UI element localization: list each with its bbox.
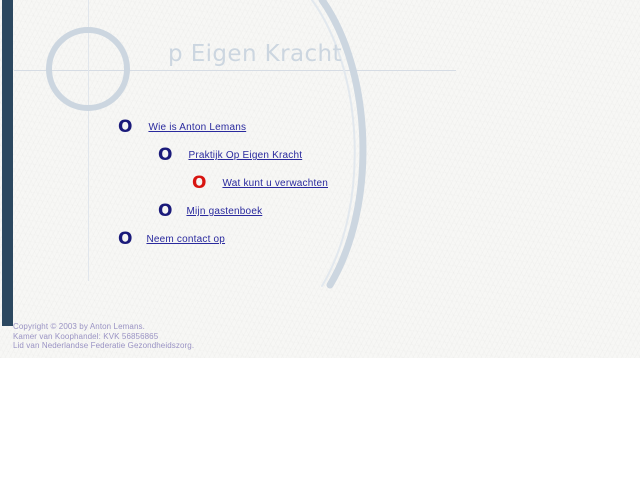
bullet-icon-active: O xyxy=(192,175,206,192)
nav-link-label[interactable]: Wie is Anton Lemans xyxy=(148,122,246,133)
bullet-icon: O xyxy=(158,147,172,164)
nav-item-mijn-gastenboek[interactable]: O Mijn gastenboek xyxy=(158,203,262,220)
nav-item-neem-contact-op[interactable]: O Neem contact op xyxy=(118,231,225,248)
bullet-icon: O xyxy=(118,119,132,136)
nav-item-wie-is-anton-lemans[interactable]: O Wie is Anton Lemans xyxy=(118,119,246,136)
nav-link-label[interactable]: Neem contact op xyxy=(146,234,225,245)
nav-link-label[interactable]: Wat kunt u verwachten xyxy=(222,178,328,189)
nav-link-label[interactable]: Mijn gastenboek xyxy=(186,206,262,217)
bullet-icon: O xyxy=(158,203,172,220)
nav-item-wat-kunt-u-verwachten[interactable]: O Wat kunt u verwachten xyxy=(192,175,328,192)
bullet-icon: O xyxy=(118,231,132,248)
nav-item-praktijk-op-eigen-kracht[interactable]: O Praktijk Op Eigen Kracht xyxy=(158,147,302,164)
footer-copyright: Copyright © 2003 by Anton Lemans. xyxy=(13,322,194,332)
footer: Copyright © 2003 by Anton Lemans. Kamer … xyxy=(13,322,194,351)
page-root: p Eigen Kracht O Wie is Anton Lemans O P… xyxy=(0,0,640,480)
footer-kvk: Kamer van Koophandel: KVK 56856865 xyxy=(13,332,194,342)
footer-membership: Lid van Nederlandse Federatie Gezondheid… xyxy=(13,341,194,351)
main-navigation: O Wie is Anton Lemans O Praktijk Op Eige… xyxy=(0,0,640,358)
nav-link-label[interactable]: Praktijk Op Eigen Kracht xyxy=(188,150,302,161)
